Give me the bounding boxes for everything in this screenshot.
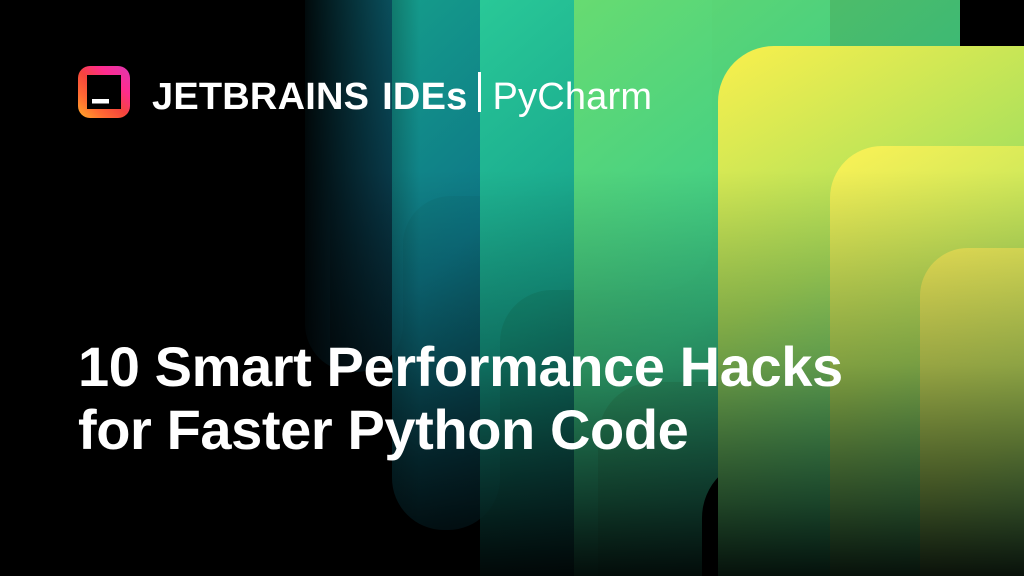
brand-family-name: IDEs	[382, 78, 467, 116]
bracket-shape-7	[920, 248, 1024, 576]
headline-line-1: 10 Smart Performance Hacks	[78, 336, 898, 399]
brand-company-name: JETBRAINS	[152, 78, 369, 116]
brand-wordmarks: JETBRAINS IDEs PyCharm	[152, 69, 652, 116]
bracket-shape-1	[305, 0, 603, 372]
jetbrains-promo-banner: JETBRAINS IDEs PyCharm 10 Smart Performa…	[0, 0, 1024, 576]
bracket-shape-5	[718, 46, 1024, 576]
brand-divider	[478, 72, 481, 112]
brand-lockup: JETBRAINS IDEs PyCharm	[76, 62, 652, 122]
jetbrains-logo-icon	[76, 64, 132, 120]
brand-product-name: PyCharm	[492, 78, 652, 116]
jetbrains-logo-svg	[76, 64, 132, 120]
headline-line-2: for Faster Python Code	[78, 399, 898, 462]
page-title: 10 Smart Performance Hacks for Faster Py…	[78, 336, 898, 461]
